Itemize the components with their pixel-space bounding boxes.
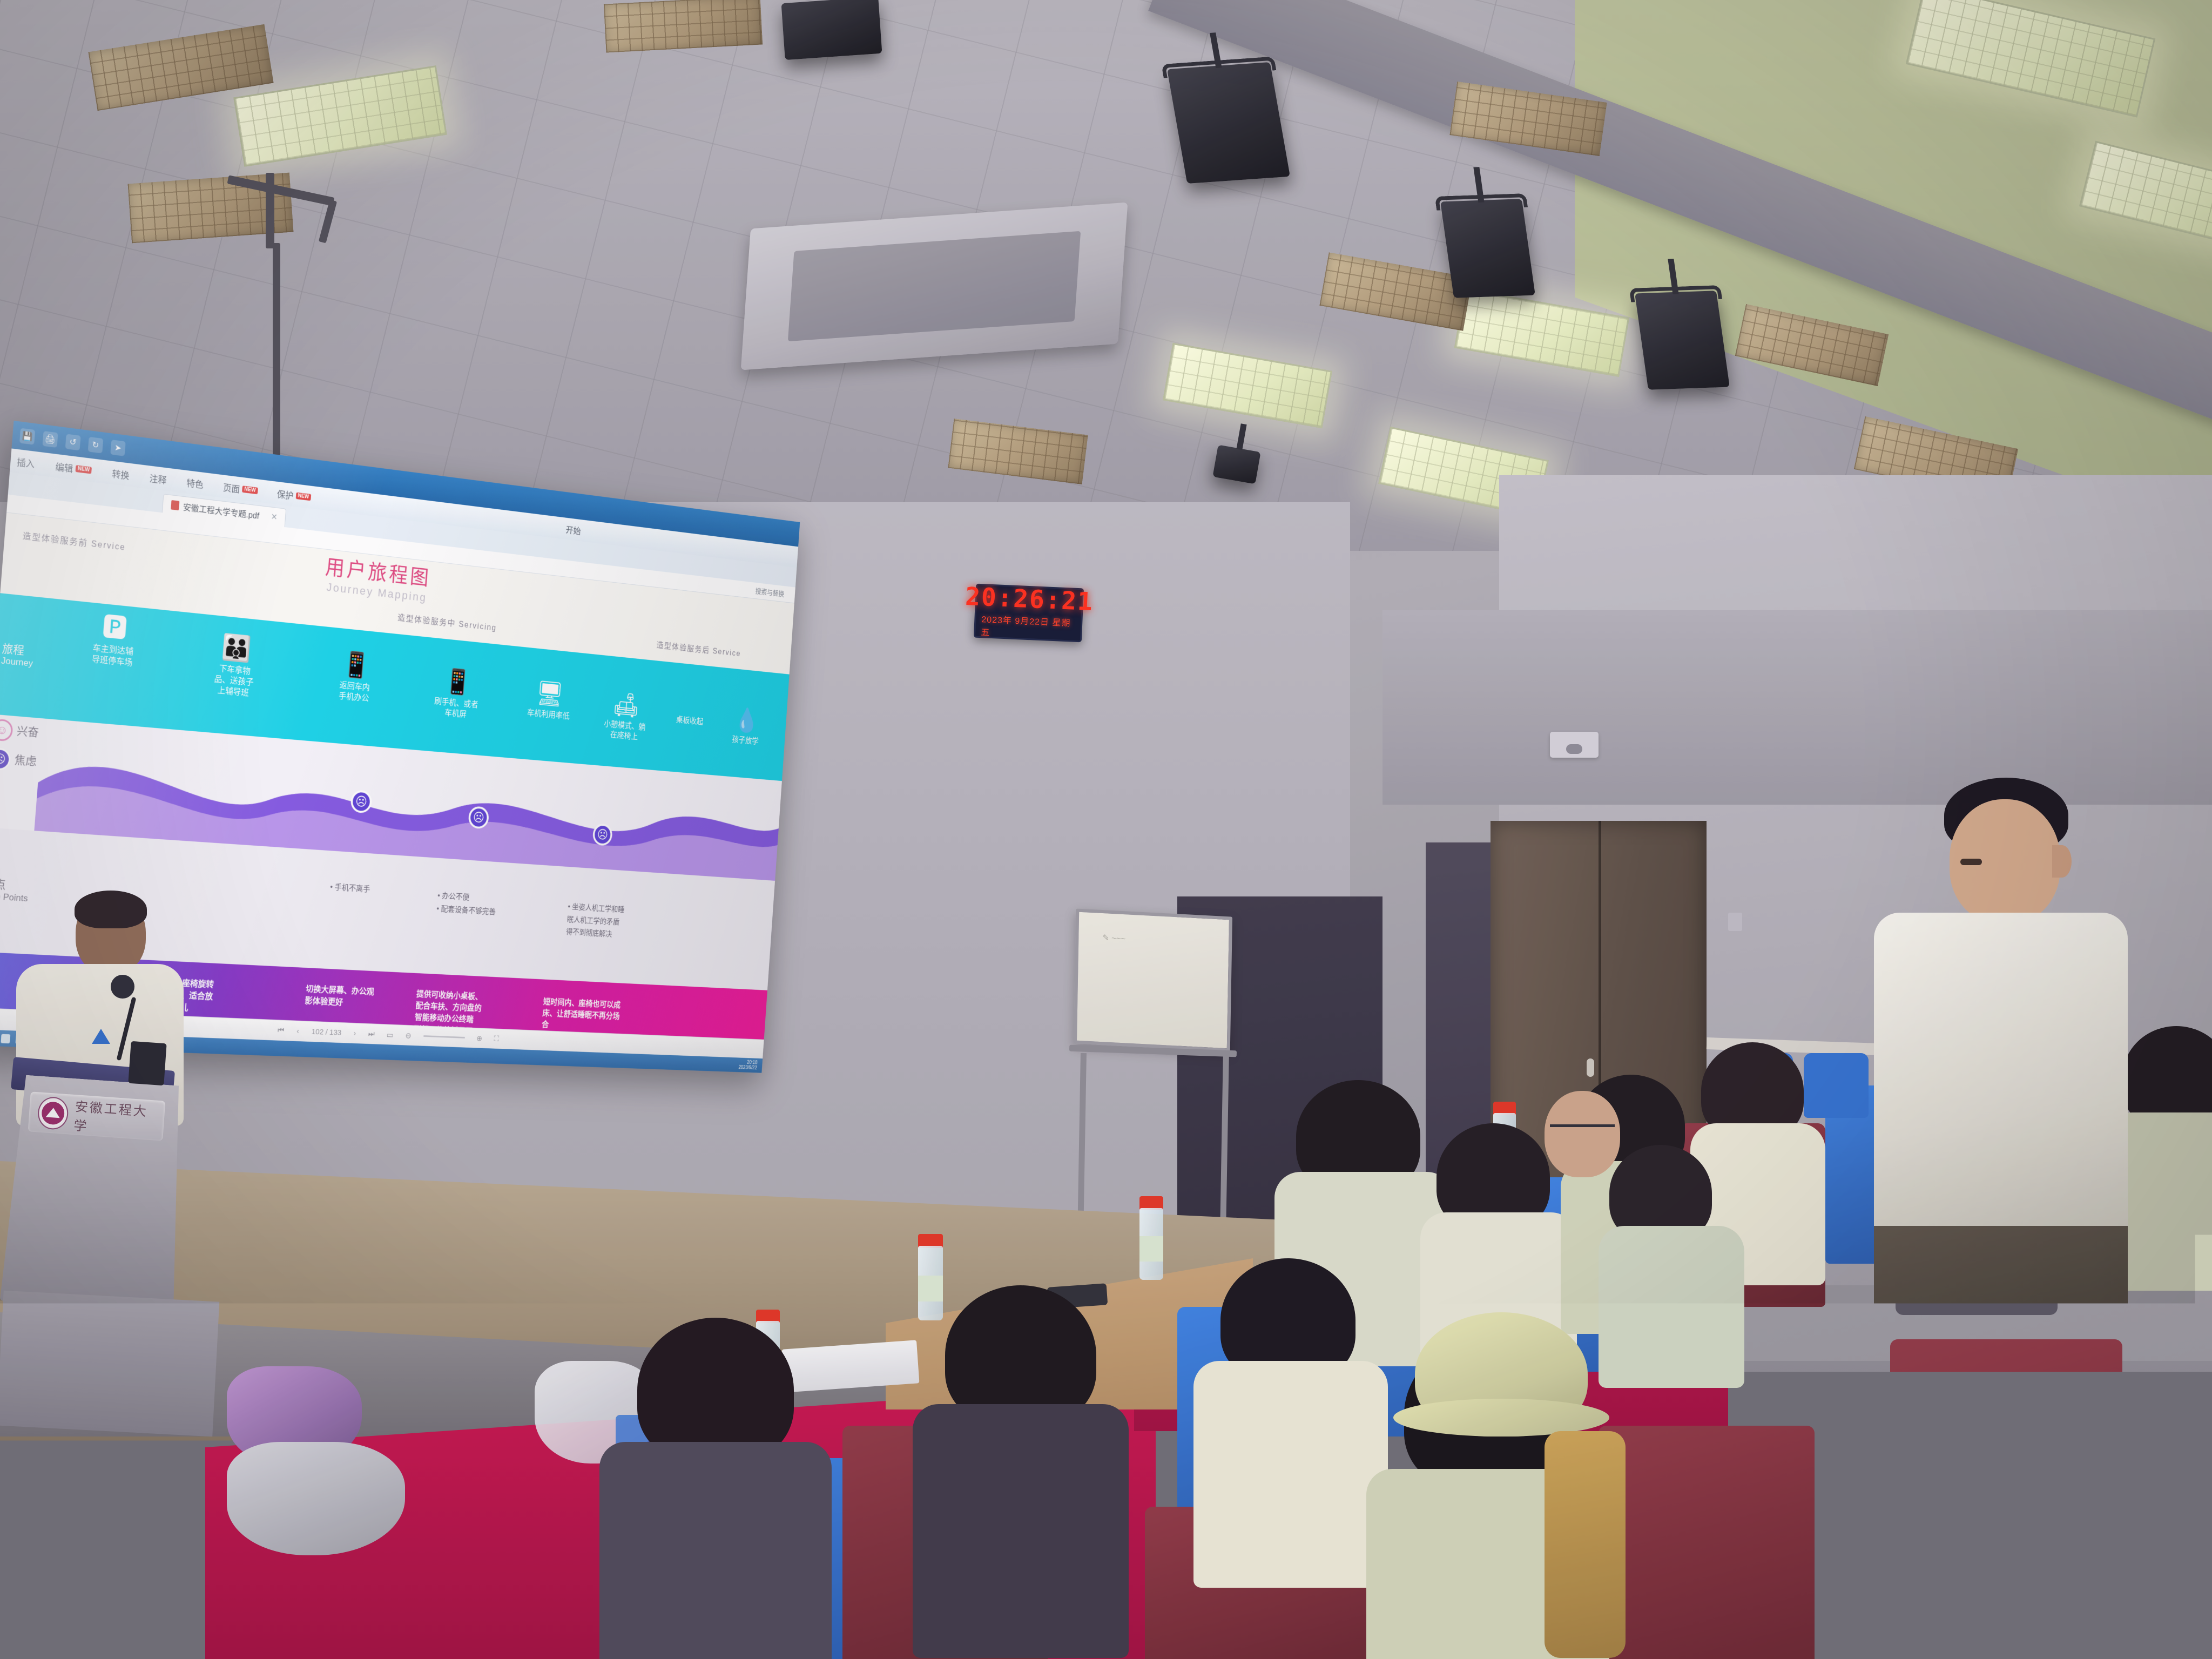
phase-label-after: 造型体验服务后 Service bbox=[656, 638, 741, 659]
ribbon-item-start[interactable]: 开始 bbox=[565, 522, 581, 536]
pain-point-group-2: • 办公不便 • 配套设备不够完善 bbox=[436, 889, 542, 921]
child-study-icon: 💧 bbox=[719, 707, 774, 735]
pointer-icon[interactable]: ➤ bbox=[110, 440, 125, 456]
new-badge: NEW bbox=[242, 485, 258, 494]
ribbon-item-page[interactable]: 页面NEW bbox=[222, 480, 258, 497]
journey-step-pickup: 💧 孩子放学 bbox=[718, 707, 774, 748]
wall-upper-band bbox=[1382, 610, 2212, 805]
whiteboard[interactable]: ✎ ~~~ bbox=[1074, 908, 1232, 1051]
row-label-journey: 旅程 Journey bbox=[1, 642, 34, 669]
pdf-file-icon bbox=[171, 500, 179, 510]
last-page-icon[interactable]: ⏭ bbox=[368, 1029, 375, 1038]
eyeglasses bbox=[1550, 1124, 1615, 1135]
new-badge: NEW bbox=[295, 492, 311, 501]
student-trousers bbox=[1874, 1226, 2128, 1372]
auditorium-seat[interactable] bbox=[1890, 1339, 2122, 1659]
zoom-slider[interactable] bbox=[423, 1035, 465, 1038]
long-hair bbox=[1545, 1431, 1626, 1658]
journey-step-phone-work: 📱 返回车内 手机办公 bbox=[320, 650, 390, 706]
student-eye bbox=[1960, 859, 1982, 865]
ribbon-item-comment[interactable]: 注释 bbox=[149, 471, 167, 486]
hanging-speaker bbox=[1440, 199, 1535, 298]
grey-jacket bbox=[227, 1442, 405, 1555]
ribbon-item-protect[interactable]: 保护NEW bbox=[276, 487, 311, 503]
prev-page-icon[interactable]: ‹ bbox=[296, 1027, 300, 1035]
university-seal bbox=[37, 1096, 69, 1130]
parent-child-icon: 👪 bbox=[201, 633, 272, 664]
save-icon[interactable]: 💾 bbox=[19, 428, 35, 445]
fullscreen-icon[interactable]: ⛶ bbox=[494, 1035, 499, 1043]
page-indicator[interactable]: 102 / 133 bbox=[311, 1027, 341, 1037]
lecture-hall-photo: 20:26:21 2023年 9月22日 星期五 ✎ ~~~ 💾 🖨 ↺ ↻ ➤… bbox=[0, 0, 2212, 1659]
journey-step-browse-phone: 📱 刷手机、或者 车机屏 bbox=[423, 667, 490, 723]
row-label-excited: 兴奋 bbox=[16, 725, 39, 739]
zoom-in-icon[interactable]: ⊕ bbox=[476, 1034, 483, 1043]
ribbon-item-edit[interactable]: 编辑NEW bbox=[55, 459, 92, 477]
wall-sensor-lens bbox=[1566, 744, 1582, 754]
ribbon-item-insert[interactable]: 插入 bbox=[16, 454, 35, 470]
pain-point-group-1: • 手机不离手 bbox=[329, 881, 424, 900]
journey-step-desk-stow: 桌板收起 bbox=[664, 710, 716, 729]
phase-label-before: 造型体验服务前 Service bbox=[22, 529, 126, 553]
next-page-icon[interactable]: › bbox=[353, 1029, 356, 1037]
monitor-icon: 🖥 bbox=[516, 679, 584, 710]
presenter-hair bbox=[75, 891, 147, 928]
ceiling-air-diffuser bbox=[604, 0, 763, 53]
water-bottle bbox=[1139, 1196, 1163, 1280]
whiteboard-scribble: ✎ ~~~ bbox=[1102, 933, 1125, 943]
ceiling-ac-unit bbox=[741, 203, 1128, 370]
hanging-speaker bbox=[1167, 62, 1290, 184]
student-white-shirt bbox=[1874, 913, 2128, 1247]
journey-step-parking: 🅿 车主到达辅 导班停车场 bbox=[73, 612, 154, 671]
university-name: 安徽工程大学 bbox=[73, 1096, 157, 1139]
digital-clock: 20:26:21 2023年 9月22日 星期五 bbox=[974, 584, 1084, 643]
taskbar-clock[interactable]: 20:18 2023/9/22 bbox=[738, 1060, 758, 1071]
journey-step-nap: 🛋 小憩模式、躺 在座椅上 bbox=[593, 691, 657, 744]
phone-icon: 📱 bbox=[322, 650, 390, 681]
taskbar-icon-app[interactable] bbox=[1, 1034, 10, 1043]
phone-icon-2: 📱 bbox=[425, 667, 491, 698]
hanging-speaker bbox=[1635, 291, 1730, 390]
podium-base bbox=[0, 1291, 219, 1437]
first-page-icon[interactable]: ⏮ bbox=[278, 1026, 285, 1035]
standing-student-right bbox=[1890, 778, 2117, 1372]
ribbon-item-convert[interactable]: 转换 bbox=[112, 466, 130, 481]
wall-switch[interactable] bbox=[1728, 913, 1742, 931]
opportunity-2: 切换大屏幕、办公观 影体验更好 bbox=[305, 983, 401, 1011]
boom-mic-cable bbox=[273, 243, 280, 486]
podium-control-box[interactable] bbox=[128, 1041, 166, 1085]
door-handle[interactable] bbox=[1587, 1058, 1594, 1077]
rear-chair[interactable] bbox=[1804, 1053, 1869, 1118]
water-bottle bbox=[918, 1234, 943, 1320]
ribbon-item-feature[interactable]: 特色 bbox=[186, 475, 204, 490]
parking-icon: 🅿 bbox=[76, 612, 154, 645]
view-mode-icon[interactable]: ▭ bbox=[387, 1030, 394, 1039]
auditorium-seat[interactable] bbox=[1599, 1426, 1815, 1659]
journey-step-dropoff: 👪 下车拿物 品、送孩子 上辅导班 bbox=[198, 633, 272, 701]
row-label-anxious: 焦虑 bbox=[14, 754, 37, 768]
new-badge: NEW bbox=[76, 465, 92, 474]
print-icon[interactable]: 🖨 bbox=[42, 431, 58, 448]
hanging-speaker bbox=[781, 0, 882, 60]
close-icon[interactable]: ✕ bbox=[271, 511, 278, 522]
phase-label-during: 造型体验服务中 Servicing bbox=[397, 611, 497, 633]
clock-time: 20:26:21 bbox=[965, 583, 1094, 613]
slide-title: 用户旅程图 Journey Mapping bbox=[323, 557, 431, 605]
undo-icon[interactable]: ↺ bbox=[65, 434, 81, 450]
recline-seat-icon: 🛋 bbox=[595, 691, 657, 720]
redo-icon[interactable]: ↻ bbox=[88, 437, 104, 454]
zoom-out-icon[interactable]: ⊖ bbox=[405, 1031, 412, 1040]
journey-step-car-screen: 🖥 车机利用率低 bbox=[515, 679, 584, 724]
podium-microphone-head bbox=[111, 975, 134, 999]
opportunity-4: 短时间内、座椅也可以成 床、让舒适睡眠不再分场 合 bbox=[541, 996, 644, 1035]
student-ear bbox=[2052, 845, 2072, 878]
clock-date: 2023年 9月22日 星期五 bbox=[981, 612, 1076, 642]
pain-point-group-3: • 坐姿人机工学和睡 眠人机工学的矛盾 得不到彻底解决 bbox=[565, 900, 685, 945]
search-replace-label[interactable]: 搜索与替换 bbox=[755, 586, 785, 599]
